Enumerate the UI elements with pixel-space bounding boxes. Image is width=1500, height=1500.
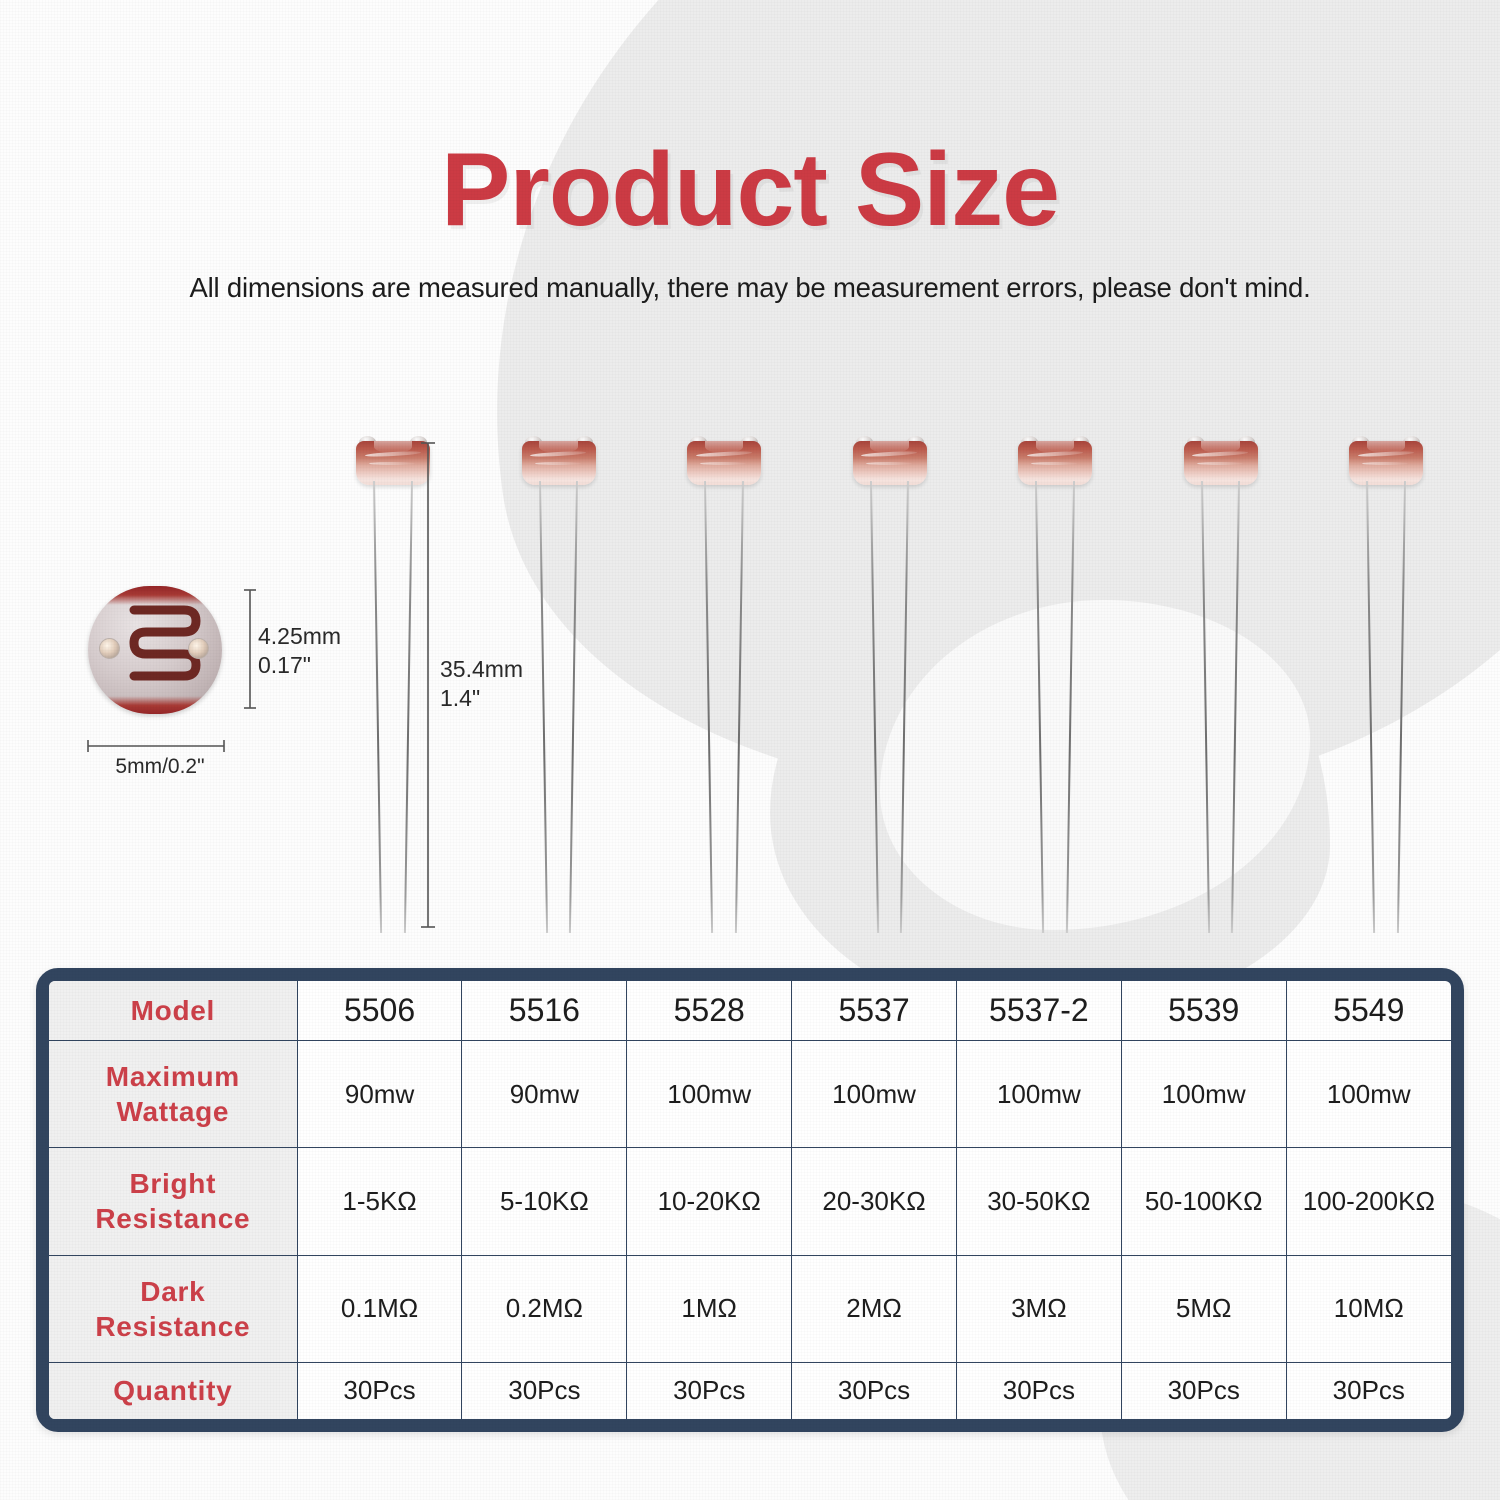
ldr-lead-right [1397, 481, 1406, 933]
table-row: BrightResistance1-5KΩ5-10KΩ10-20KΩ20-30K… [49, 1148, 1451, 1255]
table-cell: 5539 [1121, 981, 1286, 1040]
table-cell: 5MΩ [1121, 1255, 1286, 1362]
table-cell: 30Pcs [792, 1362, 957, 1419]
row-header-bright-resistance: BrightResistance [49, 1148, 297, 1255]
table-cell: 2MΩ [792, 1255, 957, 1362]
table-cell: 10MΩ [1286, 1255, 1451, 1362]
ldr-lead-left [870, 481, 879, 933]
table-row: DarkResistance0.1MΩ0.2MΩ1MΩ2MΩ3MΩ5MΩ10MΩ [49, 1255, 1451, 1362]
table-cell: 1MΩ [627, 1255, 792, 1362]
width-dimension-label: 5mm/0.2" [80, 755, 240, 779]
ldr-lead-left [1201, 481, 1210, 933]
ldr-head-glint-secondary [866, 462, 912, 465]
table-cell: 100mw [1121, 1040, 1286, 1147]
photoresistor-ldr [1184, 441, 1258, 933]
ldr-head [1349, 441, 1423, 485]
solder-pad-left [99, 638, 120, 659]
ldr-head-glint-secondary [1362, 462, 1408, 465]
ldr-head-glint-secondary [1031, 462, 1077, 465]
ldr-head-glint [861, 451, 917, 458]
table-cell: 30Pcs [1121, 1362, 1286, 1419]
table-cell: 5516 [462, 981, 627, 1040]
photoresistor-ldr [1349, 441, 1423, 933]
height-dimension-mm: 4.25mm [258, 622, 341, 651]
page-subtitle: All dimensions are measured manually, th… [0, 272, 1500, 304]
table-cell: 10-20KΩ [627, 1148, 792, 1255]
table-cell: 5-10KΩ [462, 1148, 627, 1255]
table-cell: 30-50KΩ [956, 1148, 1121, 1255]
length-dimension-in: 1.4" [440, 684, 523, 713]
table-cell: 20-30KΩ [792, 1148, 957, 1255]
ldr-head-glint-secondary [700, 462, 746, 465]
table-cell: 50-100KΩ [1121, 1148, 1286, 1255]
row-header-model: Model [49, 981, 297, 1040]
length-dimension-mm: 35.4mm [440, 655, 523, 684]
ldr-head-glint-secondary [535, 462, 581, 465]
specification-table-frame: Model55065516552855375537-255395549Maxim… [36, 968, 1464, 1432]
ldr-head-glint [696, 451, 752, 458]
table-row: MaximumWattage90mw90mw100mw100mw100mw100… [49, 1040, 1451, 1147]
table-cell: 100mw [627, 1040, 792, 1147]
row-header-line2: Resistance [53, 1201, 293, 1236]
header: Product Size All dimensions are measured… [0, 0, 1500, 304]
table-cell: 5537-2 [956, 981, 1121, 1040]
photoresistor-ldr [853, 441, 927, 933]
table-cell: 30Pcs [956, 1362, 1121, 1419]
table-cell: 0.1MΩ [297, 1255, 462, 1362]
ldr-lead-left [373, 481, 382, 933]
table-cell: 90mw [297, 1040, 462, 1147]
table-cell: 30Pcs [1286, 1362, 1451, 1419]
ldr-lead-left [539, 481, 548, 933]
table-cell: 1-5KΩ [297, 1148, 462, 1255]
ldr-lead-right [404, 481, 413, 933]
table-cell: 5537 [792, 981, 957, 1040]
solder-pad-right [188, 638, 209, 659]
ldr-head [356, 441, 430, 485]
ldr-lead-right [900, 481, 909, 933]
table-cell: 0.2MΩ [462, 1255, 627, 1362]
ldr-head [687, 441, 761, 485]
table-cell: 5506 [297, 981, 462, 1040]
ldr-lead-left [1035, 481, 1044, 933]
ldr-lead-right [569, 481, 578, 933]
ldr-head-glint-secondary [369, 462, 415, 465]
ldr-head [522, 441, 596, 485]
table-cell: 100-200KΩ [1286, 1148, 1451, 1255]
ldr-head-glint [1358, 451, 1414, 458]
table-cell: 100mw [1286, 1040, 1451, 1147]
ldr-head-glint [365, 451, 421, 458]
photoresistor-ldr [522, 441, 596, 933]
ldr-head-glint [1027, 451, 1083, 458]
width-dimension-line [86, 739, 226, 753]
ldr-sensor-closeup [88, 586, 222, 714]
row-header-line1: Bright [53, 1166, 293, 1201]
photoresistor-ldr [356, 441, 430, 933]
row-header-line1: Dark [53, 1274, 293, 1309]
length-dimension-label: 35.4mm 1.4" [440, 655, 523, 714]
row-header-dark-resistance: DarkResistance [49, 1255, 297, 1362]
table-cell: 30Pcs [462, 1362, 627, 1419]
table-cell: 5549 [1286, 981, 1451, 1040]
length-dimension-line [421, 440, 435, 930]
table-row: Model55065516552855375537-255395549 [49, 981, 1451, 1040]
table-cell: 90mw [462, 1040, 627, 1147]
row-header-line2: Wattage [53, 1094, 293, 1129]
ldr-lead-right [1231, 481, 1240, 933]
table-cell: 3MΩ [956, 1255, 1121, 1362]
table-cell: 100mw [792, 1040, 957, 1147]
ldr-lead-right [1066, 481, 1075, 933]
ldr-head-glint [1192, 451, 1248, 458]
table-cell: 30Pcs [627, 1362, 792, 1419]
ldr-head [1018, 441, 1092, 485]
table-cell: 30Pcs [297, 1362, 462, 1419]
ldr-head [1184, 441, 1258, 485]
ldr-head-glint-secondary [1197, 462, 1243, 465]
photoresistor-ldr [1018, 441, 1092, 933]
sensor-disc [88, 586, 222, 714]
height-dimension-label: 4.25mm 0.17" [258, 622, 341, 681]
height-dimension-line [243, 588, 257, 710]
row-header-maximum-wattage: MaximumWattage [49, 1040, 297, 1147]
row-header-line2: Resistance [53, 1309, 293, 1344]
ldr-lead-left [1366, 481, 1375, 933]
table-cell: 100mw [956, 1040, 1121, 1147]
ldr-lead-right [735, 481, 744, 933]
ldr-lead-left [704, 481, 713, 933]
ldr-head [853, 441, 927, 485]
table-row: Quantity30Pcs30Pcs30Pcs30Pcs30Pcs30Pcs30… [49, 1362, 1451, 1419]
ldr-head-glint [530, 451, 586, 458]
height-dimension-in: 0.17" [258, 651, 341, 680]
row-header-line1: Maximum [53, 1059, 293, 1094]
photoresistor-ldr [687, 441, 761, 933]
row-header-quantity: Quantity [49, 1362, 297, 1419]
specification-table: Model55065516552855375537-255395549Maxim… [49, 981, 1451, 1419]
product-size-infographic: Product Size All dimensions are measured… [0, 0, 1500, 1500]
table-cell: 5528 [627, 981, 792, 1040]
page-title: Product Size [0, 138, 1500, 242]
